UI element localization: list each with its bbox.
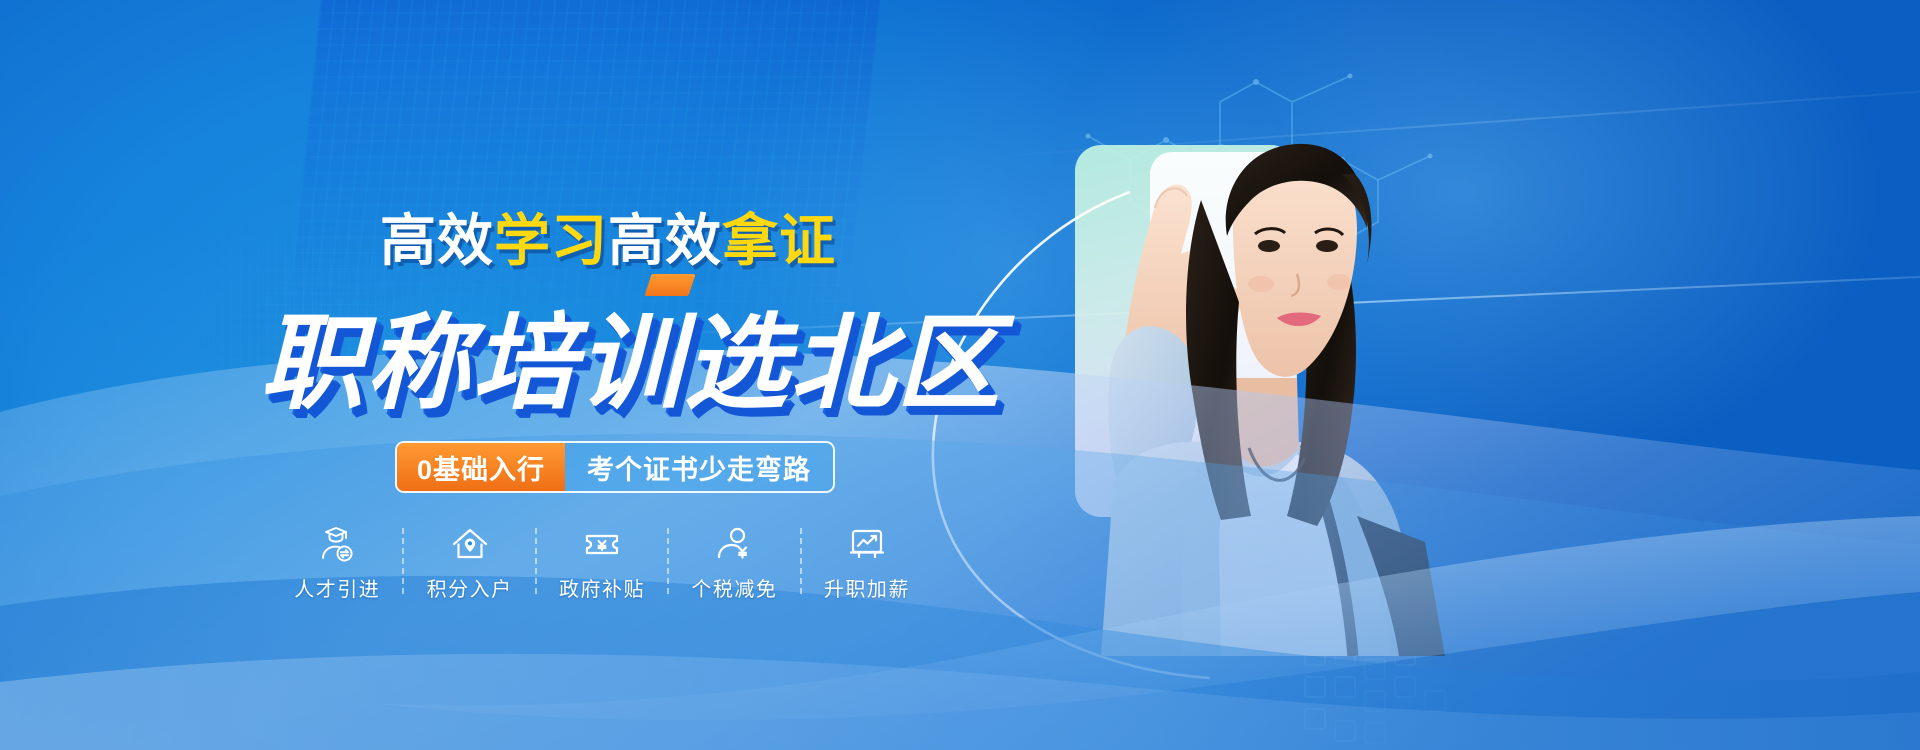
badge-primary-label: 0基础入行	[397, 443, 565, 491]
coupon-yuan-icon	[582, 524, 622, 564]
feature-label: 政府补贴	[559, 573, 645, 602]
graduate-person-icon	[317, 524, 357, 564]
headline-top-highlight2: 拿证	[722, 209, 836, 272]
feature-list: 人才引进 积分入户	[272, 524, 932, 616]
badge-secondary-label: 考个证书少走弯路	[565, 443, 833, 491]
headline-main: 职称培训选北区	[260, 278, 1002, 429]
person-yuan-icon	[714, 524, 754, 564]
tagline-badge: 0基础入行 考个证书少走弯路	[395, 441, 835, 493]
headline-top-part1: 高效	[380, 209, 494, 272]
growth-chart-icon	[847, 524, 887, 564]
feature-label: 人才引进	[294, 573, 380, 602]
feature-item-residency[interactable]: 积分入户	[404, 524, 534, 602]
feature-item-promotion[interactable]: 升职加薪	[802, 524, 932, 602]
feature-label: 个税减免	[691, 573, 777, 602]
feature-item-subsidy[interactable]: 政府补贴	[537, 524, 667, 602]
feature-item-talent[interactable]: 人才引进	[272, 524, 402, 602]
promo-banner: 高效学习高效拿证 职称培训选北区 0基础入行 考个证书少走弯路	[0, 0, 1920, 750]
feature-label: 升职加薪	[824, 573, 910, 602]
headline-top-highlight1: 学习	[494, 209, 608, 272]
headline-top-part3: 高效	[608, 209, 722, 272]
feature-label: 积分入户	[427, 573, 513, 602]
headline-top: 高效学习高效拿证	[380, 196, 836, 277]
content-layer: 高效学习高效拿证 职称培训选北区 0基础入行 考个证书少走弯路	[0, 0, 1920, 750]
feature-item-tax[interactable]: 个税减免	[669, 524, 799, 602]
house-pin-icon	[450, 524, 490, 564]
